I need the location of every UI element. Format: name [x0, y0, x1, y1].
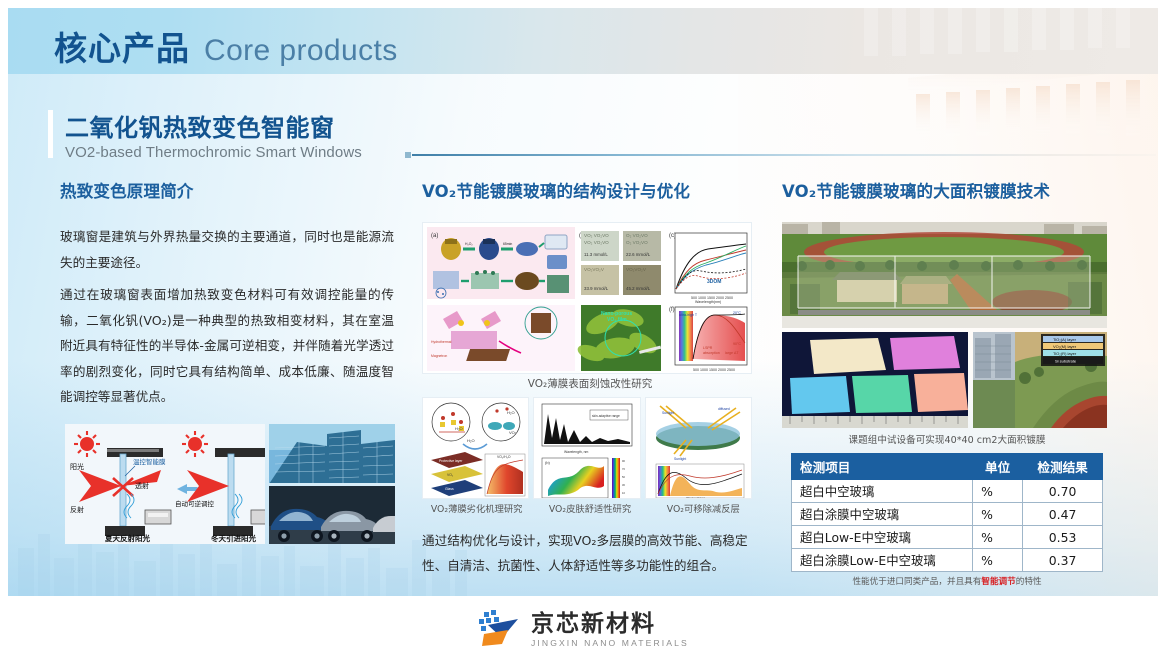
table-cell-item: 超白Low-E中空玻璃 — [792, 526, 973, 549]
figure-etching-study: (a) H₂O₂ 65min — [422, 222, 752, 374]
svg-text:O₂ VO₂VO: O₂ VO₂VO — [626, 240, 648, 245]
photo-coated-window-view: TiO₂(A) layer VO₂(M) layer TiO₂(R) layer… — [973, 332, 1107, 428]
label-reflect: 反射 — [70, 505, 84, 514]
svg-text:Magnetron: Magnetron — [431, 354, 447, 358]
svg-text:Wavelength, nm: Wavelength, nm — [564, 450, 589, 454]
photo-color-samples — [782, 332, 968, 428]
logo-name-en: JINGXIN NANO MATERIALS — [531, 638, 689, 648]
table-header-row: 检测项目 单位 检测结果 — [792, 454, 1103, 480]
company-logo: 京芯新材料 JINGXIN NANO MATERIALS — [478, 610, 689, 650]
label-conc2: 22.6 mmol/L — [626, 252, 651, 257]
page-title-cn: 核心产品 — [54, 22, 190, 70]
middle-column-footer-text: 通过结构优化与设计，实现VO₂多层膜的高效节能、高稳定性、自清洁、抗菌性、人体舒… — [422, 529, 758, 578]
logo-text: 京芯新材料 JINGXIN NANO MATERIALS — [531, 612, 689, 648]
label-lspr: LSPR — [703, 346, 713, 350]
table-row: 超白Low-E中空玻璃 % 0.53 — [792, 526, 1103, 549]
svg-text:(f): (f) — [669, 307, 675, 313]
label-sunlight: 阳光 — [70, 462, 84, 471]
svg-text:Sunlight: Sunlight — [674, 457, 686, 461]
table-cell-unit: % — [973, 526, 1023, 549]
section-title: 二氧化钒热致变色智能窗 VO2-based Thermochromic Smar… — [48, 108, 362, 161]
figure-skin-comfort: skin-adaptive range Wavelength, nm (b) — [533, 397, 640, 499]
label-conc3: 33.9 mmol/L — [584, 286, 609, 291]
label-si-substrate: Si substrate — [1055, 359, 1077, 364]
svg-text:Glass: Glass — [445, 487, 454, 491]
svg-text:VO₂: VO₂ — [447, 473, 454, 477]
left-paragraph-2: 通过在玻璃窗表面增加热致变色材料可有效调控能量的传输，二氧化钒(VO₂)是一种典… — [60, 282, 394, 410]
left-photo-stack — [269, 424, 395, 544]
svg-text:H₂O: H₂O — [467, 438, 475, 443]
label-conc4: 45.2 mmol/L — [626, 286, 651, 291]
table-header-item: 检测项目 — [792, 454, 973, 480]
table-cell-item: 超白中空玻璃 — [792, 480, 973, 503]
label-smart-film: 温控智能膜 — [133, 457, 166, 466]
svg-text:H₂O₂: H₂O₂ — [465, 242, 473, 246]
logo-mark-icon — [478, 610, 522, 650]
svg-text:Hydrothermal: Hydrothermal — [431, 340, 452, 344]
table-header-unit: 单位 — [973, 454, 1023, 480]
svg-text:(a): (a) — [431, 233, 438, 239]
spec-table: 检测项目 单位 检测结果 超白中空玻璃 % 0.70 超白涂膜中空玻璃 % 0.… — [791, 453, 1103, 572]
photo-glass-building — [269, 424, 395, 483]
figure-degradation: H₂O H₂O VO₂ H₂O Protective layer VO₂ Gla — [422, 397, 529, 499]
right-column-title: VO₂节能镀膜玻璃的大面积镀膜技术 — [782, 178, 1112, 202]
footer: 京芯新材料 JINGXIN NANO MATERIALS — [0, 596, 1166, 658]
label-summer: 夏天反射阳光 — [104, 533, 150, 543]
label-reversible: 自动可逆调控 — [175, 499, 215, 508]
table-cell-result: 0.47 — [1023, 503, 1103, 526]
photo-caption-large-area: 课题组中试设备可实现40*40 cm2大面积镀膜 — [782, 432, 1112, 446]
spec-note-suffix: 的特性 — [1016, 577, 1042, 587]
label-tio2-a: TiO₂(A) layer — [1053, 337, 1077, 342]
svg-text:VO₂ VO₂VO: VO₂ VO₂VO — [584, 233, 609, 238]
photo-cars — [269, 486, 395, 545]
svg-text:VO₂/H₂O: VO₂/H₂O — [497, 455, 511, 459]
svg-text:H₂O: H₂O — [455, 426, 463, 431]
figure-removable-ar: Sunlight diffused Sunlight Wavelength(nm… — [645, 397, 752, 499]
section-accent-bar — [48, 110, 53, 158]
table-cell-unit: % — [973, 480, 1023, 503]
table-row: 超白涂膜中空玻璃 % 0.47 — [792, 503, 1103, 526]
svg-text:Sunlight: Sunlight — [662, 411, 674, 415]
svg-text:skin-adaptive range: skin-adaptive range — [592, 414, 620, 418]
svg-text:Wavelength(nm): Wavelength(nm) — [686, 496, 705, 499]
left-column-body: 玻璃窗是建筑与外界热量交换的主要通道，同时也是能源流失的主要途径。 通过在玻璃窗… — [60, 224, 394, 410]
figure-etching-caption: VO₂薄膜表面刻蚀改性研究 — [422, 376, 758, 391]
header-columns-watermark — [858, 8, 1158, 74]
section-rule-dot — [405, 152, 411, 158]
svg-text:VO₂ film: VO₂ film — [607, 317, 627, 323]
label-vo2-m: VO₂(M) layer — [1053, 344, 1077, 349]
caption-degradation: VO₂薄膜劣化机理研究 — [422, 501, 531, 515]
table-header-result: 检测结果 — [1023, 454, 1103, 480]
column-principle: 热致变色原理简介 玻璃窗是建筑与外界热量交换的主要通道，同时也是能源流失的主要途… — [60, 178, 394, 410]
table-row: 超白涂膜Low-E中空玻璃 % 0.37 — [792, 549, 1103, 572]
column-large-area-coating: VO₂节能镀膜玻璃的大面积镀膜技术 — [782, 178, 1112, 587]
svg-text:absorption: absorption — [703, 351, 720, 355]
section-rule — [412, 154, 1156, 156]
svg-text:VO₂VO₂V: VO₂VO₂V — [626, 267, 647, 272]
svg-text:VO₂: VO₂ — [509, 430, 517, 435]
table-cell-result: 0.37 — [1023, 549, 1103, 572]
spec-table-note: 性能优于进口同类产品，并且具有智能调节的特性 — [782, 575, 1112, 587]
table-row: 超白中空玻璃 % 0.70 — [792, 480, 1103, 503]
table-cell-unit: % — [973, 503, 1023, 526]
table-cell-result: 0.53 — [1023, 526, 1103, 549]
caption-skin-comfort: VO₂皮肤舒适性研究 — [535, 501, 644, 515]
table-cell-unit: % — [973, 549, 1023, 572]
label-ultra-high: ultra-high T — [679, 313, 698, 317]
photo-large-area-glass — [782, 222, 1107, 328]
svg-text:Wavelength(nm): Wavelength(nm) — [695, 300, 721, 304]
svg-text:(b): (b) — [545, 460, 551, 465]
left-figure-row: 阳光 反射 温控智能膜 透射 夏天反射阳光 自动可逆调控 — [65, 424, 395, 544]
logo-name-cn: 京芯新材料 — [531, 612, 689, 636]
label-3dom: 3DOM — [707, 279, 721, 285]
svg-text:H₂O: H₂O — [507, 410, 515, 415]
table-cell-item: 超白涂膜Low-E中空玻璃 — [792, 549, 973, 572]
svg-text:VO₂ VO₂VO: VO₂ VO₂VO — [584, 240, 609, 245]
left-column-title: 热致变色原理简介 — [60, 178, 394, 202]
label-large-tlum: large ΔT — [725, 351, 739, 355]
slide-canvas: 核心产品 Core products 二氧化钒热致变色智能窗 VO2-based… — [0, 0, 1166, 658]
svg-text:O₂ VO₂VO: O₂ VO₂VO — [626, 233, 648, 238]
section-title-cn: 二氧化钒热致变色智能窗 — [65, 108, 362, 143]
figure-row-three-captions: VO₂薄膜劣化机理研究 VO₂皮肤舒适性研究 VO₂可移除减反层 — [422, 501, 758, 515]
figure-row-three: H₂O H₂O VO₂ H₂O Protective layer VO₂ Gla — [422, 397, 752, 499]
middle-column-title: VO₂节能镀膜玻璃的结构设计与优化 — [422, 178, 758, 202]
header-band: 核心产品 Core products — [8, 8, 1158, 74]
table-cell-result: 0.70 — [1023, 480, 1103, 503]
page-title: 核心产品 Core products — [54, 22, 398, 70]
label-winter: 冬天引进阳光 — [211, 533, 256, 543]
label-tio2-r: TiO₂(R) layer — [1053, 351, 1077, 356]
svg-text:VO₂VO₂V: VO₂VO₂V — [584, 267, 605, 272]
table-cell-item: 超白涂膜中空玻璃 — [792, 503, 973, 526]
svg-text:Protective layer: Protective layer — [439, 459, 463, 463]
spec-note-highlight: 智能调节 — [981, 577, 1015, 587]
label-temp-low: 20°C — [733, 311, 741, 315]
column-structure-design: VO₂节能镀膜玻璃的结构设计与优化 (a) H₂O₂ 65min — [422, 178, 758, 578]
smart-window-diagram: 阳光 反射 温控智能膜 透射 夏天反射阳光 自动可逆调控 — [65, 424, 265, 544]
svg-text:65min: 65min — [503, 242, 512, 246]
svg-text:500 1000 1500 2000 2500: 500 1000 1500 2000 2500 — [693, 368, 735, 372]
label-conc1: 11.3 mmol/L — [584, 252, 608, 257]
caption-removable-ar: VO₂可移除减反层 — [649, 501, 758, 515]
left-paragraph-1: 玻璃窗是建筑与外界热量交换的主要通道，同时也是能源流失的主要途径。 — [60, 224, 394, 275]
page-title-en: Core products — [204, 34, 398, 68]
svg-text:diffused: diffused — [718, 407, 730, 411]
label-temp-high: 90°C — [733, 342, 741, 346]
label-transmit: 透射 — [135, 481, 149, 490]
section-title-en: VO2-based Thermochromic Smart Windows — [65, 144, 362, 161]
spec-note-prefix: 性能优于进口同类产品，并且具有 — [852, 577, 981, 587]
photo-row-samples: TiO₂(A) layer VO₂(M) layer TiO₂(R) layer… — [782, 332, 1107, 428]
